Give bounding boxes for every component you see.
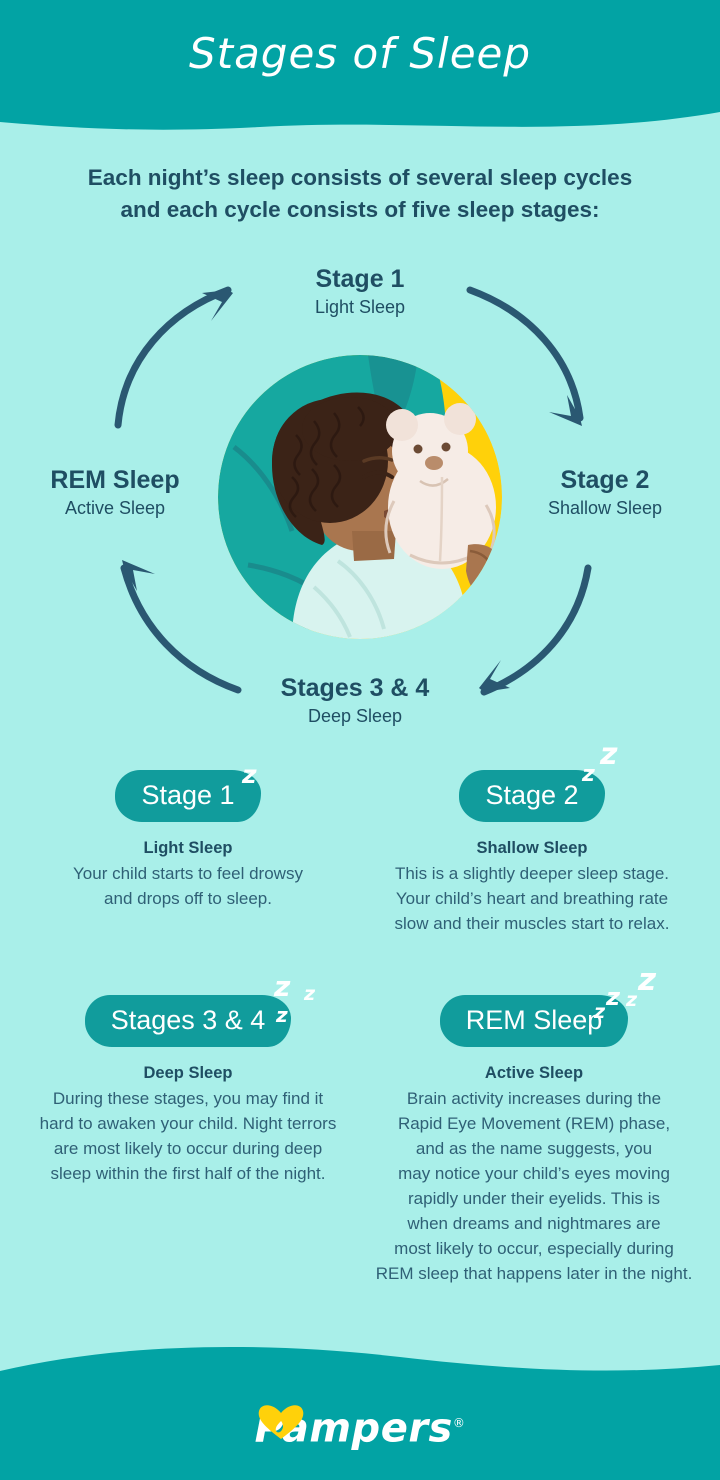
stage-pill-label[interactable]: Stage 2 xyxy=(459,770,604,822)
cycle-node-subtitle: Light Sleep xyxy=(210,294,510,320)
cycle-node-stage1: Stage 1 Light Sleep xyxy=(210,264,510,320)
card-body-line: when dreams and nightmares are xyxy=(360,1211,708,1236)
card-body-line: hard to awaken your child. Night terrors xyxy=(8,1111,368,1136)
stage-pill-label[interactable]: Stage 1 xyxy=(115,770,260,822)
cycle-node-title: REM Sleep xyxy=(0,465,230,495)
cycle-node-title: Stages 3 & 4 xyxy=(200,673,510,703)
cycle-node-title: Stage 2 xyxy=(490,465,720,495)
cycle-node-stage2: Stage 2 Shallow Sleep xyxy=(490,465,720,521)
brand-logo-text: Pampers® xyxy=(255,1401,466,1450)
card-body: Your child starts to feel drowsy and dro… xyxy=(18,861,358,911)
card-body-line: During these stages, you may find it xyxy=(8,1086,368,1111)
card-body: During these stages, you may find it har… xyxy=(8,1086,368,1186)
card-heading: Shallow Sleep xyxy=(362,836,702,860)
card-body-line: slow and their muscles start to relax. xyxy=(362,911,702,936)
header-banner: Stages of Sleep xyxy=(0,0,720,150)
intro-text: Each night’s sleep consists of several s… xyxy=(60,162,660,226)
pill-wrapper: Stage 2 z z xyxy=(362,770,702,832)
card-body-line: Brain activity increases during the xyxy=(360,1086,708,1111)
stage-pill-label[interactable]: REM Sleep xyxy=(440,995,629,1047)
card-heading: Deep Sleep xyxy=(8,1061,368,1085)
stage-card-stage2: Stage 2 z z Shallow Sleep This is a slig… xyxy=(362,770,702,936)
arrow-stage34-to-rem-path xyxy=(124,568,238,690)
card-body-line: REM sleep that happens later in the nigh… xyxy=(360,1261,708,1286)
footer-banner: Pampers® xyxy=(0,1335,720,1480)
card-heading: Active Sleep xyxy=(360,1061,708,1085)
stage-card-stages34: Stages 3 & 4 z z z Deep Sleep During the… xyxy=(8,995,368,1186)
brand-logo[interactable]: Pampers® xyxy=(0,1401,720,1450)
card-body-line: Rapid Eye Movement (REM) phase, xyxy=(360,1111,708,1136)
pill-wrapper: Stages 3 & 4 z z z xyxy=(8,995,368,1057)
card-body-line: may notice your child’s eyes moving xyxy=(360,1161,708,1186)
intro-line-1: Each night’s sleep consists of several s… xyxy=(60,162,660,194)
sleep-cycle-diagram: Stage 1 Light Sleep Stage 2 Shallow Slee… xyxy=(0,250,720,760)
card-body-line: and drops off to sleep. xyxy=(18,886,358,911)
sleeping-child-illustration-art xyxy=(218,355,502,639)
sleeping-child-illustration xyxy=(218,355,502,639)
card-body-line: rapidly under their eyelids. This is xyxy=(360,1186,708,1211)
page-title: Stages of Sleep xyxy=(0,30,720,78)
z-icon: z xyxy=(638,965,656,996)
z-icon: z xyxy=(304,985,315,1004)
cycle-node-subtitle: Shallow Sleep xyxy=(490,495,720,521)
infographic-page: Stages of Sleep Each night’s sleep consi… xyxy=(0,0,720,1480)
heart-icon xyxy=(255,1401,307,1441)
stage-card-rem: REM Sleep z z z z Active Sleep Brain act… xyxy=(360,995,708,1286)
cycle-node-subtitle: Deep Sleep xyxy=(200,703,510,729)
card-body-line: and as the name suggests, you xyxy=(360,1136,708,1161)
z-icon: z xyxy=(274,973,290,1001)
registered-mark: ® xyxy=(453,1416,466,1430)
stage-card-stage1: Stage 1 z Light Sleep Your child starts … xyxy=(18,770,358,911)
card-heading: Light Sleep xyxy=(18,836,358,860)
card-body-line: are most likely to occur during deep xyxy=(8,1136,368,1161)
cycle-node-rem: REM Sleep Active Sleep xyxy=(0,465,230,521)
intro-line-2: and each cycle consists of five sleep st… xyxy=(60,194,660,226)
pill-wrapper: Stage 1 z xyxy=(18,770,358,832)
card-body: Brain activity increases during the Rapi… xyxy=(360,1086,708,1286)
z-icon: z xyxy=(626,991,637,1010)
cycle-node-subtitle: Active Sleep xyxy=(0,495,230,521)
card-body-line: Your child’s heart and breathing rate xyxy=(362,886,702,911)
card-body-line: This is a slightly deeper sleep stage. xyxy=(362,861,702,886)
stage-pill-label[interactable]: Stages 3 & 4 xyxy=(85,995,292,1047)
card-body-line: Your child starts to feel drowsy xyxy=(18,861,358,886)
card-body: This is a slightly deeper sleep stage. Y… xyxy=(362,861,702,936)
pill-wrapper: REM Sleep z z z z xyxy=(360,995,708,1057)
cycle-node-title: Stage 1 xyxy=(210,264,510,294)
card-body-line: sleep within the first half of the night… xyxy=(8,1161,368,1186)
cycle-node-stages34: Stages 3 & 4 Deep Sleep xyxy=(200,673,510,729)
card-body-line: most likely to occur, especially during xyxy=(360,1236,708,1261)
